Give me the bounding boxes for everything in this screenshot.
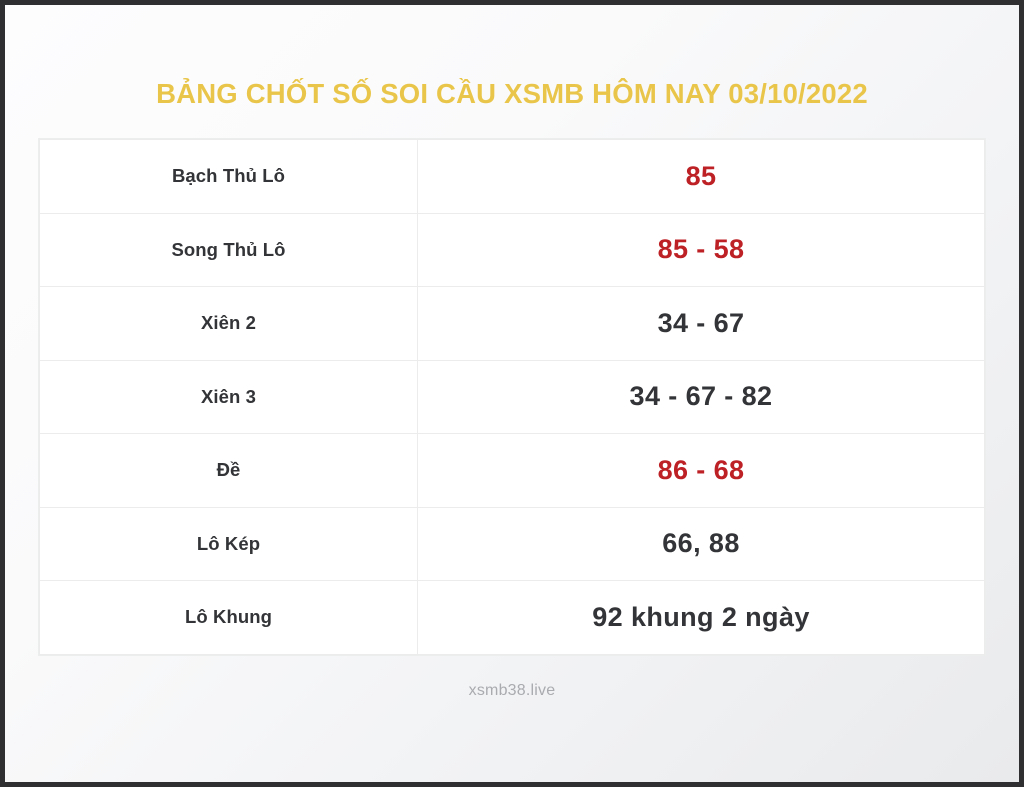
table-row: Xiên 334 - 67 - 82 — [40, 360, 985, 434]
row-value: 86 - 68 — [418, 434, 985, 508]
row-value: 66, 88 — [418, 507, 985, 581]
table-row: Xiên 234 - 67 — [40, 287, 985, 361]
row-label: Xiên 3 — [40, 360, 418, 434]
page-frame: BẢNG CHỐT SỐ SOI CẦU XSMB HÔM NAY 03/10/… — [0, 0, 1024, 787]
row-value: 85 — [418, 140, 985, 214]
row-value: 34 - 67 — [418, 287, 985, 361]
row-value: 92 khung 2 ngày — [418, 581, 985, 655]
row-value: 34 - 67 - 82 — [418, 360, 985, 434]
row-label: Lô Kép — [40, 507, 418, 581]
row-label: Song Thủ Lô — [40, 213, 418, 287]
row-label: Đề — [40, 434, 418, 508]
table-row: Song Thủ Lô85 - 58 — [40, 213, 985, 287]
row-value: 85 - 58 — [418, 213, 985, 287]
site-watermark: xsmb38.live — [469, 682, 556, 700]
prediction-table-body: Bạch Thủ Lô85Song Thủ Lô85 - 58Xiên 234 … — [40, 140, 985, 655]
row-label: Bạch Thủ Lô — [40, 140, 418, 214]
page-content: BẢNG CHỐT SỐ SOI CẦU XSMB HÔM NAY 03/10/… — [5, 5, 1019, 782]
page-title: BẢNG CHỐT SỐ SOI CẦU XSMB HÔM NAY 03/10/… — [156, 78, 868, 110]
table-row: Lô Kép66, 88 — [40, 507, 985, 581]
table-row: Bạch Thủ Lô85 — [40, 140, 985, 214]
prediction-table-card: Bạch Thủ Lô85Song Thủ Lô85 - 58Xiên 234 … — [38, 138, 986, 656]
prediction-table: Bạch Thủ Lô85Song Thủ Lô85 - 58Xiên 234 … — [39, 139, 985, 655]
row-label: Lô Khung — [40, 581, 418, 655]
row-label: Xiên 2 — [40, 287, 418, 361]
table-row: Đề86 - 68 — [40, 434, 985, 508]
table-row: Lô Khung92 khung 2 ngày — [40, 581, 985, 655]
